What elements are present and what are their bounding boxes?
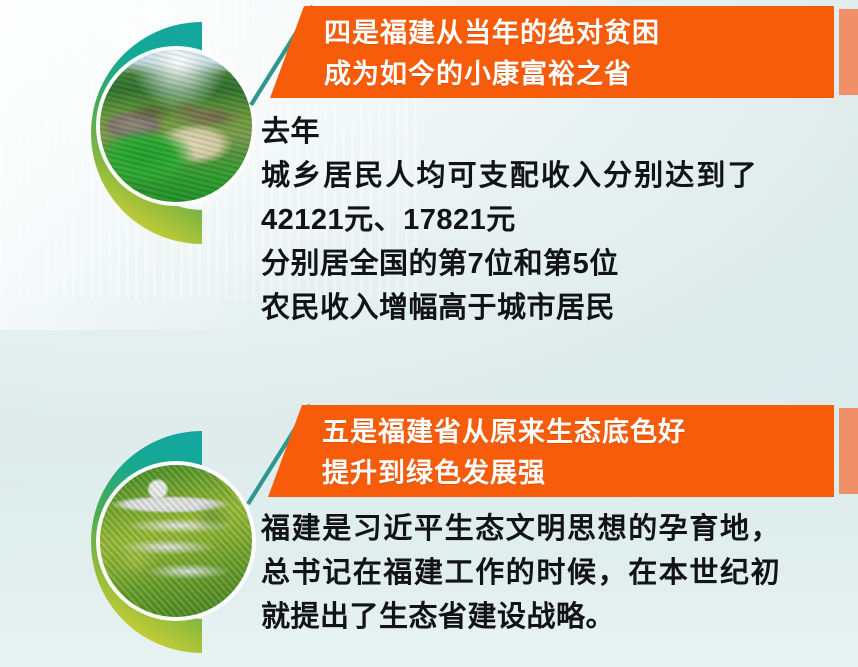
body-line-2: 总书记在福建工作的时候，在本世纪初 [261,551,781,595]
banner-line-1: 四是福建从当年的绝对贫困 [324,13,830,54]
section-four: 四是福建从当年的绝对贫困 成为如今的小康富裕之省 去年 城乡居民人均可支配收入分… [0,0,858,340]
body-line-1: 福建是习近平生态文明思想的孕育地， [261,507,781,551]
body-line-5: 农民收入增幅高于城市居民 [261,286,759,330]
rural-village-terraced-fields-photo [100,50,252,202]
section-four-body: 去年 城乡居民人均可支配收入分别达到了 42121元、17821元 分别居全国的… [261,110,759,330]
right-edge-accent-bar-light [839,9,858,95]
section-five-banner: 五是福建省从原来生态底色好 提升到绿色发展强 [268,405,830,497]
medallion-group-five [42,417,272,667]
right-edge-accent-bar-light [839,408,858,494]
banner-line-2: 成为如今的小康富裕之省 [324,54,830,95]
body-line-4: 分别居全国的第7位和第5位 [261,242,759,286]
section-five: 五是福建省从原来生态底色好 提升到绿色发展强 福建是习近平生态文明思想的孕育地，… [0,395,858,667]
body-line-3: 42121元、17821元 [261,198,759,242]
right-edge-accent-bar-solid [812,405,834,497]
right-edge-accent-bar-solid [812,6,834,98]
infographic-canvas: 四是福建从当年的绝对贫困 成为如今的小康富裕之省 去年 城乡居民人均可支配收入分… [0,0,858,667]
banner-line-1: 五是福建省从原来生态底色好 [322,412,830,453]
medallion-group-four [42,8,272,258]
body-line-1: 去年 [261,110,759,154]
section-five-body: 福建是习近平生态文明思想的孕育地， 总书记在福建工作的时候，在本世纪初 就提出了… [261,507,781,639]
banner-line-2: 提升到绿色发展强 [322,453,830,494]
section-four-banner: 四是福建从当年的绝对贫困 成为如今的小康富裕之省 [270,6,830,98]
winding-forest-road-aerial-photo [100,465,252,617]
body-line-2: 城乡居民人均可支配收入分别达到了 [261,154,759,198]
body-line-3: 就提出了生态省建设战略。 [261,595,781,639]
